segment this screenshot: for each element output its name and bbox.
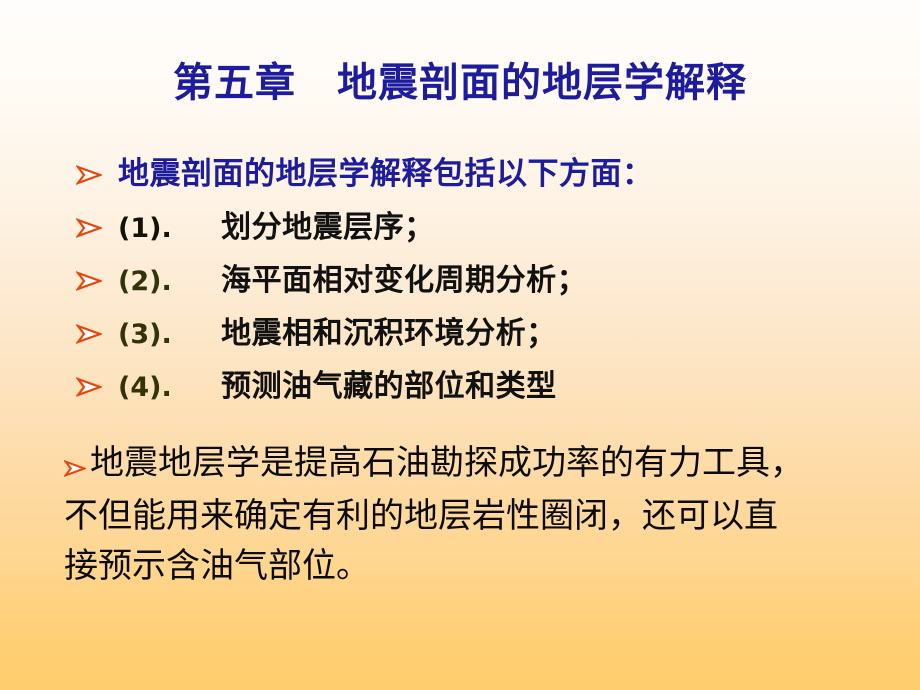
list-item-3-label: 地震相和沉积环境分析； <box>221 316 557 351</box>
arrowhead-bullet-icon <box>76 307 106 360</box>
list-item-1-number: (1). <box>118 202 216 255</box>
list-item-2: (2). 海平面相对变化周期分析； <box>0 254 920 307</box>
closing-paragraph-line-3: 接预示含油气部位。 <box>64 541 894 591</box>
arrowhead-bullet-icon <box>76 360 106 413</box>
list-item-lead-label: 地震剖面的地层学解释包括以下方面： <box>76 156 654 192</box>
list-item-lead: 地震剖面的地层学解释包括以下方面： <box>0 148 920 201</box>
list-item-1-label: 划分地震层序； <box>221 210 435 245</box>
arrowhead-bullet-icon <box>64 441 90 491</box>
closing-paragraph: 地震地层学是提高石油勘探成功率的有力工具， 不但能用来确定有利的地层岩性圈闭，还… <box>64 438 894 591</box>
list-item-4: (4). 预测油气藏的部位和类型 <box>0 360 920 413</box>
arrowhead-bullet-icon <box>76 201 106 254</box>
list-item-3: (3). 地震相和沉积环境分析； <box>0 307 920 360</box>
list-item-2-number: (2). <box>118 255 216 308</box>
list-item-4-label: 预测油气藏的部位和类型 <box>221 369 557 404</box>
bullet-list: 地震剖面的地层学解释包括以下方面： (1). 划分地震层序； (2). 海平面相… <box>0 148 920 413</box>
arrowhead-bullet-icon <box>76 254 106 307</box>
page-title: 第五章 地震剖面的地层学解释 <box>0 58 920 108</box>
list-item-4-number: (4). <box>118 361 216 414</box>
closing-paragraph-line-1: 地震地层学是提高石油勘探成功率的有力工具， <box>64 438 894 491</box>
list-item-3-number: (3). <box>118 308 216 361</box>
list-item-1: (1). 划分地震层序； <box>0 201 920 254</box>
closing-paragraph-text-1: 地震地层学是提高石油勘探成功率的有力工具， <box>90 443 804 483</box>
closing-paragraph-line-2: 不但能用来确定有利的地层岩性圈闭，还可以直 <box>64 491 894 541</box>
slide-canvas: 第五章 地震剖面的地层学解释 地震剖面的地层学解释包括以下方面： (1). 划分… <box>0 0 920 690</box>
arrowhead-bullet-icon <box>76 148 106 201</box>
list-item-2-label: 海平面相对变化周期分析； <box>221 263 587 298</box>
